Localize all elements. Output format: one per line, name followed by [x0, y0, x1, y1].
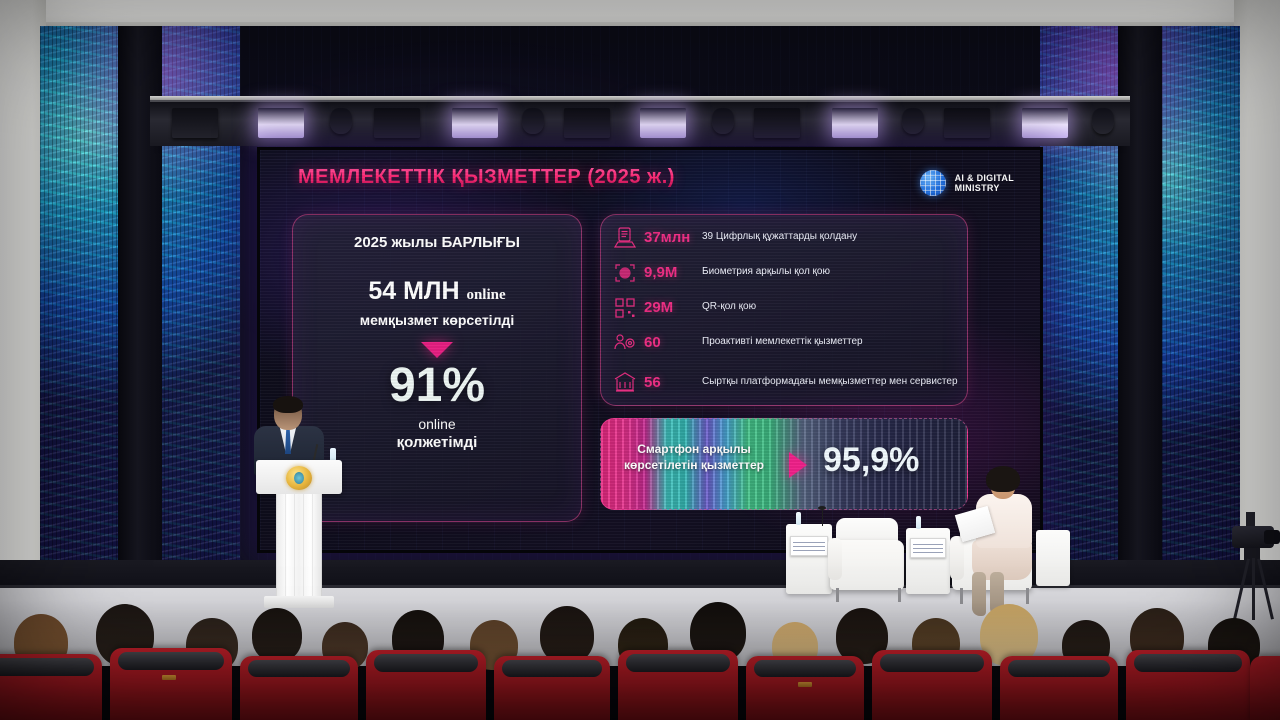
statistics-list: 37млн 39 Цифрлық құжаттарды қолдану 9,9М…	[600, 220, 966, 404]
side-table-left	[786, 524, 832, 594]
stage-light-3	[330, 108, 352, 134]
podium-column	[276, 494, 322, 598]
person-gear-icon	[612, 331, 638, 355]
stat-label: QR-қол қою	[702, 301, 756, 314]
face-scan-icon	[612, 261, 638, 285]
side-table-right	[1036, 530, 1070, 586]
ministry-brand-logo: AI & DIGITAL MINISTRY	[920, 170, 1014, 196]
card-subtitle: мемқызмет көрсетілді	[293, 312, 581, 328]
stage-light-11	[832, 108, 878, 138]
stat-value: 60	[644, 334, 702, 351]
camera-lens	[1264, 530, 1280, 544]
stage-light-4	[374, 108, 420, 138]
brand-text: AI & DIGITAL MINISTRY	[955, 173, 1014, 194]
stat-value: 56	[644, 374, 702, 391]
water-bottle-center	[916, 516, 921, 529]
stage-light-15	[1092, 108, 1114, 134]
stat-label: 39 Цифрлық құжаттарды қолдану	[702, 231, 857, 244]
platform-building-icon	[612, 370, 638, 394]
stat-value: 29М	[644, 299, 702, 316]
stage-light-9	[712, 108, 734, 134]
stage-light-14	[1022, 108, 1068, 138]
brand-line-1: AI & DIGITAL	[955, 173, 1014, 183]
stat-value: 9,9М	[644, 264, 702, 281]
online-percent-label-2: қолжетімді	[293, 434, 581, 451]
microphone-head-left	[818, 506, 826, 510]
camera-viewfinder	[1246, 512, 1255, 526]
globe-icon	[920, 170, 946, 196]
stat-row-qr-signature: 29М QR-қол қою	[600, 290, 966, 325]
triangle-down-icon	[421, 342, 453, 358]
stage-light-8	[640, 108, 686, 138]
banner-percent-value: 95,9%	[823, 441, 919, 480]
panelist-hair	[986, 466, 1020, 492]
seated-audience	[0, 600, 1280, 720]
stat-row-digital-documents: 37млн 39 Цифрлық құжаттарды қолдану	[600, 220, 966, 255]
stat-row-external-platforms: 56 Сыртқы платформадағы мемқызметтер мен…	[600, 360, 966, 404]
nameplate-left	[790, 536, 828, 556]
audience-shadow-overlay	[0, 600, 1280, 720]
table-microphone-left	[822, 508, 823, 526]
smartphone-services-banner: Смартфон арқылы көрсетілетін қызметтер 9…	[600, 418, 968, 510]
stage-light-13	[944, 108, 990, 138]
presentation-screen: МЕМЛЕКЕТТІК ҚЫЗМЕТТЕР (2025 ж.) AI & DIG…	[260, 150, 1040, 550]
stat-label: Биометрия арқылы қол қою	[702, 266, 830, 279]
card-big-value: 54 МЛН online	[293, 277, 581, 306]
seated-panelist-reading	[966, 466, 1044, 616]
stage-light-6	[522, 108, 544, 134]
brand-line-2: MINISTRY	[955, 183, 1014, 193]
card-heading: 2025 жылы БАРЛЫҒЫ	[293, 234, 581, 251]
document-laptop-icon	[612, 226, 638, 250]
stat-row-proactive-services: 60 Проактивті мемлекеттік қызметтер	[600, 325, 966, 360]
stat-label: Сыртқы платформадағы мемқызметтер мен се…	[702, 376, 958, 389]
water-bottle-left	[796, 512, 801, 525]
stat-value: 37млн	[644, 229, 702, 246]
stage-light-12	[902, 108, 924, 134]
speaker-podium	[256, 460, 342, 620]
banner-label: Смартфон арқылы көрсетілетін қызметтер	[619, 441, 769, 473]
triangle-right-icon	[789, 452, 807, 478]
stage-light-10	[754, 108, 800, 138]
stage-light-1	[172, 108, 218, 138]
stat-label: Проактивті мемлекеттік қызметтер	[702, 336, 863, 349]
kazakhstan-emblem	[286, 466, 312, 490]
presenter-hair	[273, 396, 303, 413]
big-number: 54 МЛН	[368, 277, 459, 305]
screenshot-root: МЕМЛЕКЕТТІК ҚЫЗМЕТТЕР (2025 ж.) AI & DIG…	[0, 0, 1280, 720]
stage-light-2	[258, 108, 304, 138]
big-unit: online	[466, 287, 505, 303]
online-percent-value: 91%	[293, 362, 581, 410]
armchair-right-arm	[950, 536, 964, 580]
stat-row-biometry: 9,9М Биометрия арқылы қол қою	[600, 255, 966, 290]
stage-light-7	[564, 108, 610, 138]
armchair-left-arm	[828, 538, 842, 580]
stage-light-5	[452, 108, 498, 138]
nameplate-center	[910, 538, 946, 558]
online-percent-label-1: online	[293, 416, 581, 432]
slide-title: МЕМЛЕКЕТТІК ҚЫЗМЕТТЕР (2025 ж.)	[298, 166, 675, 189]
qr-code-icon	[612, 296, 638, 320]
